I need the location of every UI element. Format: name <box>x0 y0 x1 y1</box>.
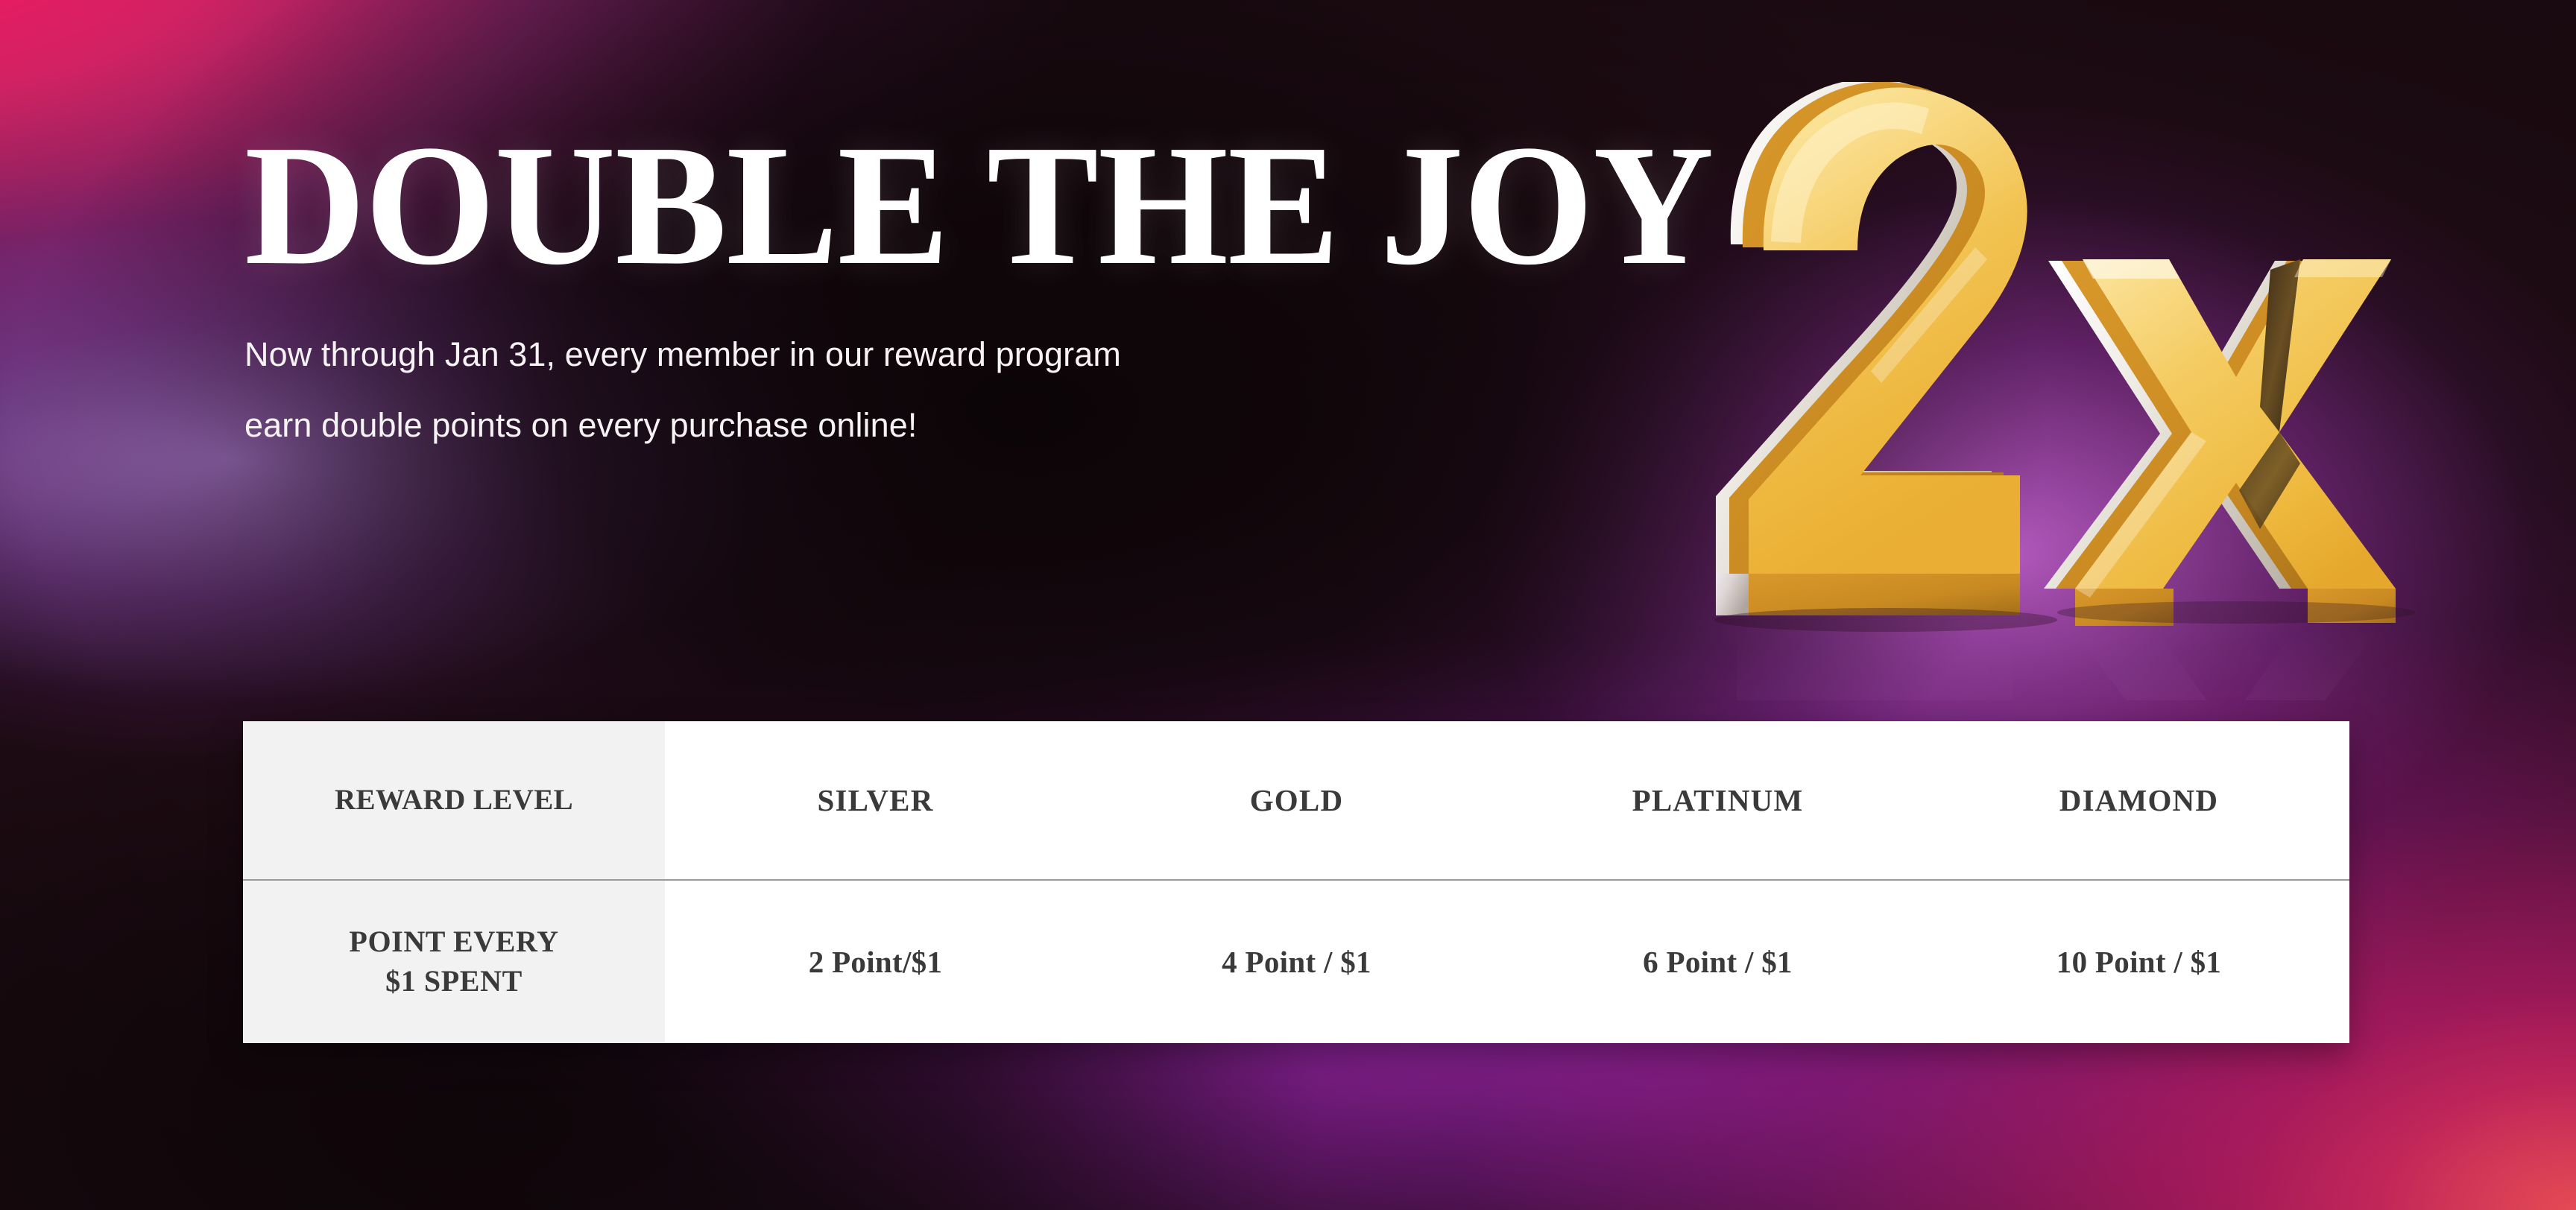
promo-description-line-1: Now through Jan 31, every member in our … <box>244 319 1474 390</box>
table-header-reward-level: REWARD LEVEL <box>243 721 665 879</box>
reward-tier-table: REWARD LEVEL SILVER GOLD PLATINUM DIAMON… <box>243 721 2349 1043</box>
table-cell-diamond-points: 10 Point / $1 <box>1928 881 2349 1043</box>
table-row-label-line-1: POINT EVERY <box>349 922 558 962</box>
table-header-gold: GOLD <box>1086 721 1507 879</box>
table-row: POINT EVERY $1 SPENT 2 Point/$1 4 Point … <box>243 879 2349 1043</box>
table-row-label-line-2: $1 SPENT <box>385 962 523 1001</box>
table-header-row: REWARD LEVEL SILVER GOLD PLATINUM DIAMON… <box>243 721 2349 879</box>
table-cell-platinum-points: 6 Point / $1 <box>1507 881 1928 1043</box>
table-header-platinum: PLATINUM <box>1507 721 1928 879</box>
promo-banner: DOUBLE THE JOY Now through Jan 31, every… <box>0 0 2576 1210</box>
table-cell-silver-points: 2 Point/$1 <box>665 881 1086 1043</box>
promo-description: Now through Jan 31, every member in our … <box>244 319 1474 460</box>
table-row-label: POINT EVERY $1 SPENT <box>243 881 665 1043</box>
table-header-silver: SILVER <box>665 721 1086 879</box>
table-header-diamond: DIAMOND <box>1928 721 2349 879</box>
table-cell-gold-points: 4 Point / $1 <box>1086 881 1507 1043</box>
page-title: DOUBLE THE JOY <box>244 131 1438 280</box>
headline-block: DOUBLE THE JOY Now through Jan 31, every… <box>244 131 1474 460</box>
promo-description-line-2: earn double points on every purchase onl… <box>244 390 1474 460</box>
